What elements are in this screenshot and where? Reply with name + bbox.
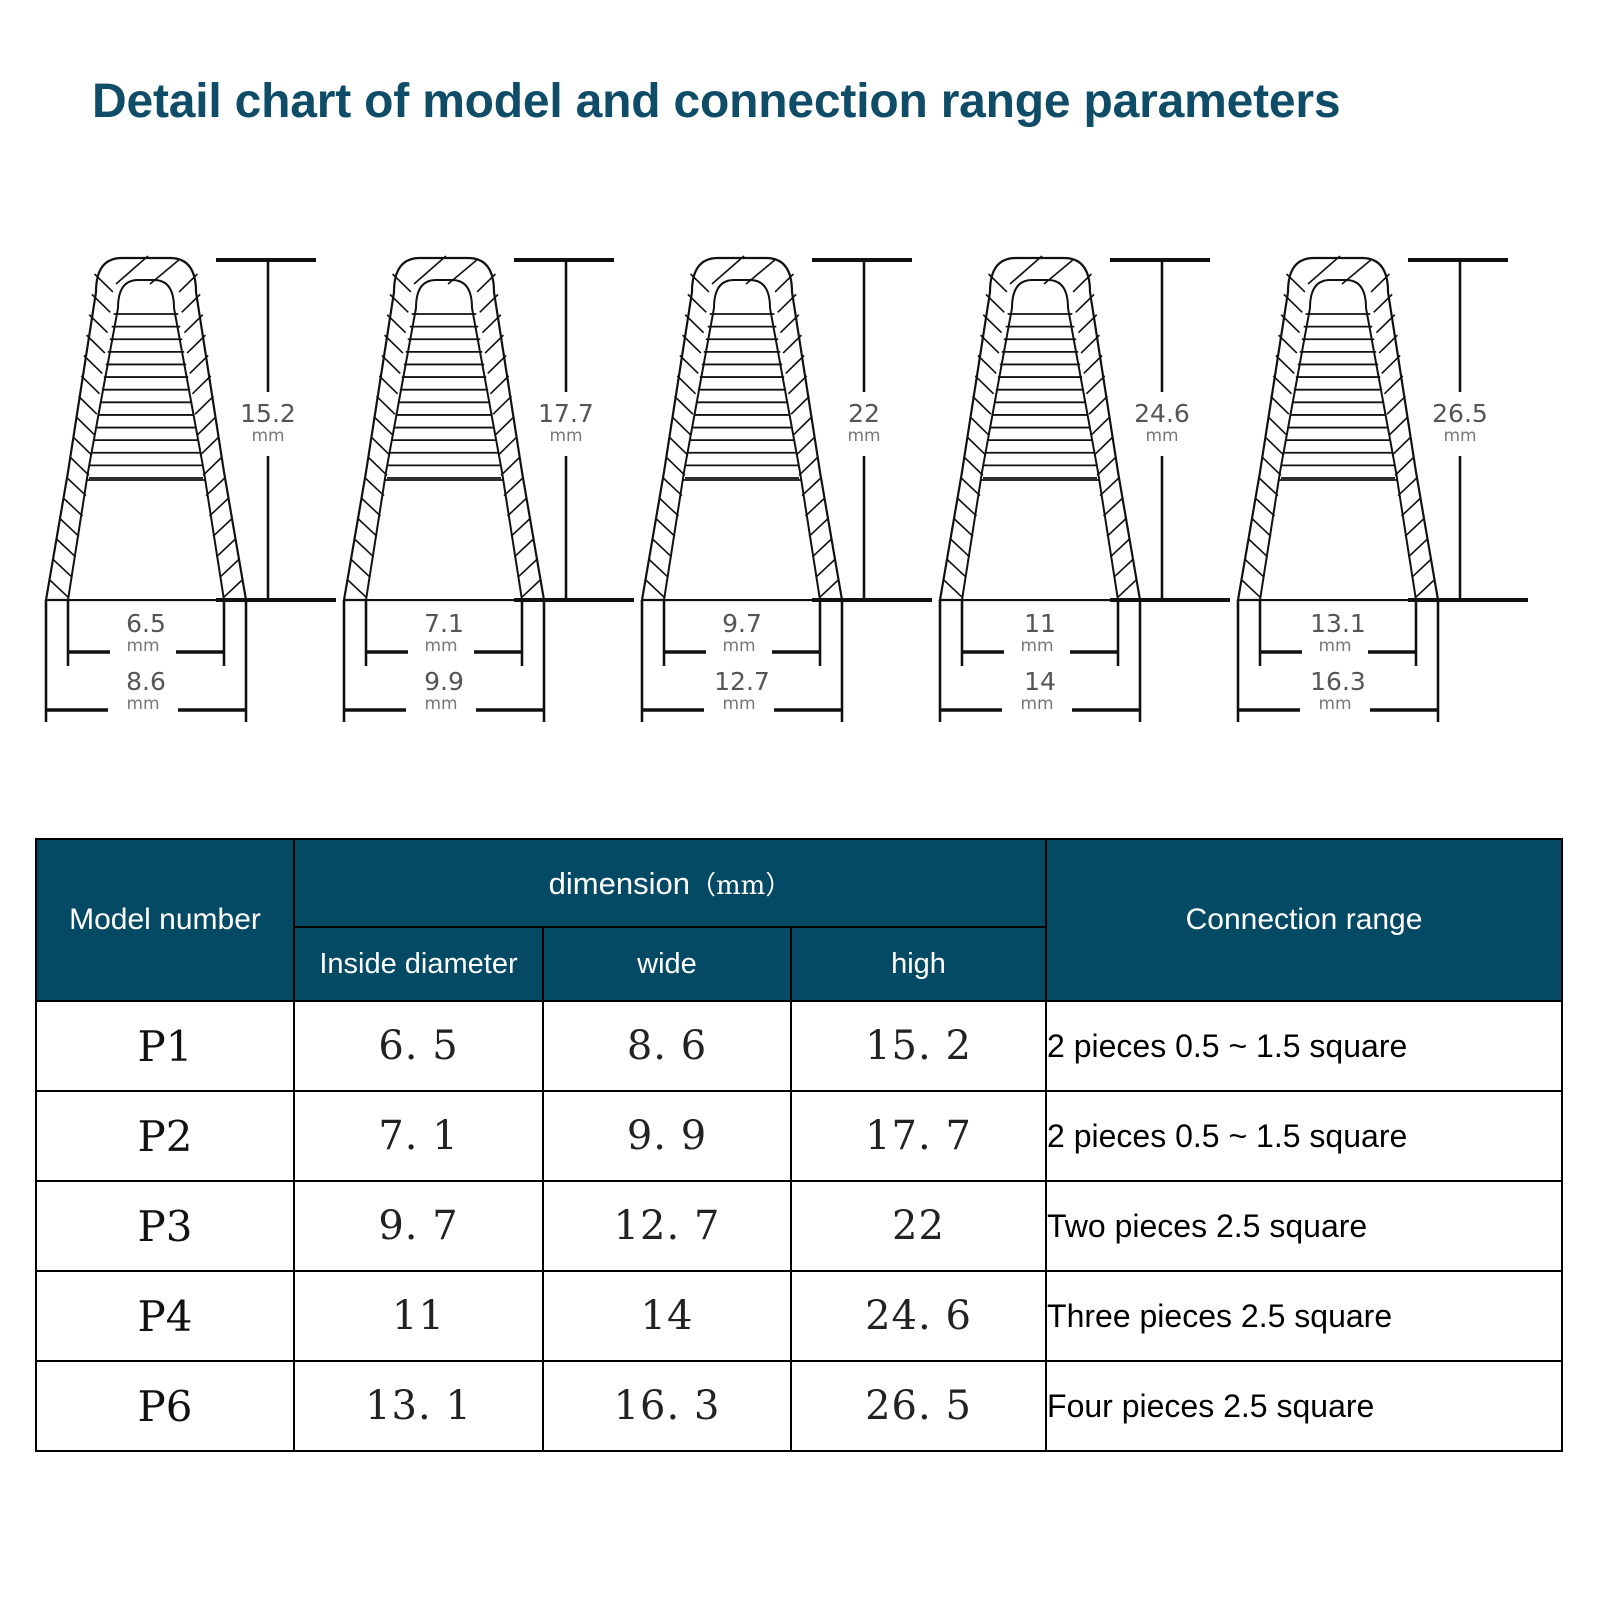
width-value: 8.6 <box>126 667 166 696</box>
row-model-number: P3 <box>36 1181 294 1271</box>
diagram-cell-p4: 24.6mm11mm14mmP4 <box>934 240 1232 770</box>
diagram-cell-p1: 15.2mm6.5mm8.6mmP1 <box>40 240 338 770</box>
inside-diameter-value: 13.1 <box>1310 609 1366 638</box>
row-inside-diameter: 11 <box>294 1271 543 1361</box>
row-wide: 16. 3 <box>543 1361 791 1451</box>
connector-diagram-strip: 15.2mm6.5mm8.6mmP117.7mm7.1mm9.9mmP222mm… <box>40 240 1570 770</box>
header-inside-diameter: Inside diameter <box>294 927 543 1001</box>
row-connection-range: Three pieces 2.5 square <box>1046 1271 1562 1361</box>
row-connection-range: Four pieces 2.5 square <box>1046 1361 1562 1451</box>
row-model-number: P6 <box>36 1361 294 1451</box>
row-high: 22 <box>791 1181 1046 1271</box>
header-model-number: Model number <box>36 839 294 1001</box>
height-value: 26.5 <box>1432 399 1488 428</box>
table-header: Model number dimension（mm） Connection ra… <box>36 839 1562 1001</box>
row-wide: 8. 6 <box>543 1001 791 1091</box>
row-model-number: P4 <box>36 1271 294 1361</box>
width-unit: mm <box>1318 694 1351 714</box>
inside-diameter-dimension: 11mm <box>962 600 1118 666</box>
height-value: 24.6 <box>1134 399 1190 428</box>
row-wide: 12. 7 <box>543 1181 791 1271</box>
table-row: P613. 116. 326. 5Four pieces 2.5 square <box>36 1361 1562 1451</box>
inside-diameter-unit: mm <box>1318 636 1351 656</box>
row-wide: 14 <box>543 1271 791 1361</box>
row-wide: 9. 9 <box>543 1091 791 1181</box>
height-unit: mm <box>1145 426 1178 446</box>
height-unit: mm <box>847 426 880 446</box>
row-model-number: P1 <box>36 1001 294 1091</box>
row-high: 24. 6 <box>791 1271 1046 1361</box>
inside-diameter-value: 9.7 <box>722 609 762 638</box>
width-unit: mm <box>1020 694 1053 714</box>
row-model-number: P2 <box>36 1091 294 1181</box>
specification-table: Model number dimension（mm） Connection ra… <box>35 838 1563 1452</box>
inside-diameter-unit: mm <box>424 636 457 656</box>
height-unit: mm <box>549 426 582 446</box>
height-value: 22 <box>848 399 880 428</box>
header-dimension-label: dimension <box>549 866 690 901</box>
row-high: 15. 2 <box>791 1001 1046 1091</box>
inside-diameter-dimension: 9.7mm <box>664 600 820 666</box>
diagram-cell-p6: 26.5mm13.1mm16.3mmP6 <box>1232 240 1530 770</box>
row-connection-range: 2 pieces 0.5 ~ 1.5 square <box>1046 1001 1562 1091</box>
row-connection-range: 2 pieces 0.5 ~ 1.5 square <box>1046 1091 1562 1181</box>
width-unit: mm <box>126 694 159 714</box>
table-row: P16. 58. 615. 22 pieces 0.5 ~ 1.5 square <box>36 1001 1562 1091</box>
header-dimension-unit-open: （ <box>690 871 716 901</box>
inside-diameter-unit: mm <box>126 636 159 656</box>
height-value: 17.7 <box>538 399 594 428</box>
table-body: P16. 58. 615. 22 pieces 0.5 ~ 1.5 square… <box>36 1001 1562 1451</box>
width-value: 9.9 <box>424 667 464 696</box>
inside-diameter-dimension: 6.5mm <box>68 600 224 666</box>
row-high: 26. 5 <box>791 1361 1046 1451</box>
header-high: high <box>791 927 1046 1001</box>
header-connection-range: Connection range <box>1046 839 1562 1001</box>
inside-diameter-unit: mm <box>722 636 755 656</box>
height-unit: mm <box>251 426 284 446</box>
inside-diameter-unit: mm <box>1020 636 1053 656</box>
height-value: 15.2 <box>240 399 296 428</box>
inside-diameter-value: 11 <box>1024 609 1056 638</box>
width-value: 16.3 <box>1310 667 1366 696</box>
diagram-cell-p3: 22mm9.7mm12.7mmP3 <box>636 240 934 770</box>
height-unit: mm <box>1443 426 1476 446</box>
inside-diameter-value: 6.5 <box>126 609 166 638</box>
width-unit: mm <box>722 694 755 714</box>
inside-diameter-value: 7.1 <box>424 609 464 638</box>
table-header-row-1: Model number dimension（mm） Connection ra… <box>36 839 1562 927</box>
page-title: Detail chart of model and connection ran… <box>92 74 1340 129</box>
inside-diameter-dimension: 7.1mm <box>366 600 522 666</box>
header-dimension-unit: mm <box>716 871 765 901</box>
row-inside-diameter: 6. 5 <box>294 1001 543 1091</box>
table-row: P4111424. 6Three pieces 2.5 square <box>36 1271 1562 1361</box>
width-value: 14 <box>1024 667 1056 696</box>
row-inside-diameter: 7. 1 <box>294 1091 543 1181</box>
row-connection-range: Two pieces 2.5 square <box>1046 1181 1562 1271</box>
width-unit: mm <box>424 694 457 714</box>
row-high: 17. 7 <box>791 1091 1046 1181</box>
header-wide: wide <box>543 927 791 1001</box>
diagram-cell-p2: 17.7mm7.1mm9.9mmP2 <box>338 240 636 770</box>
inside-diameter-dimension: 13.1mm <box>1260 600 1416 666</box>
table-row: P27. 19. 917. 72 pieces 0.5 ~ 1.5 square <box>36 1091 1562 1181</box>
header-dimension-unit-close: ） <box>765 871 791 901</box>
table-row: P39. 712. 722Two pieces 2.5 square <box>36 1181 1562 1271</box>
row-inside-diameter: 9. 7 <box>294 1181 543 1271</box>
header-dimension: dimension（mm） <box>294 839 1046 927</box>
width-value: 12.7 <box>714 667 770 696</box>
row-inside-diameter: 13. 1 <box>294 1361 543 1451</box>
